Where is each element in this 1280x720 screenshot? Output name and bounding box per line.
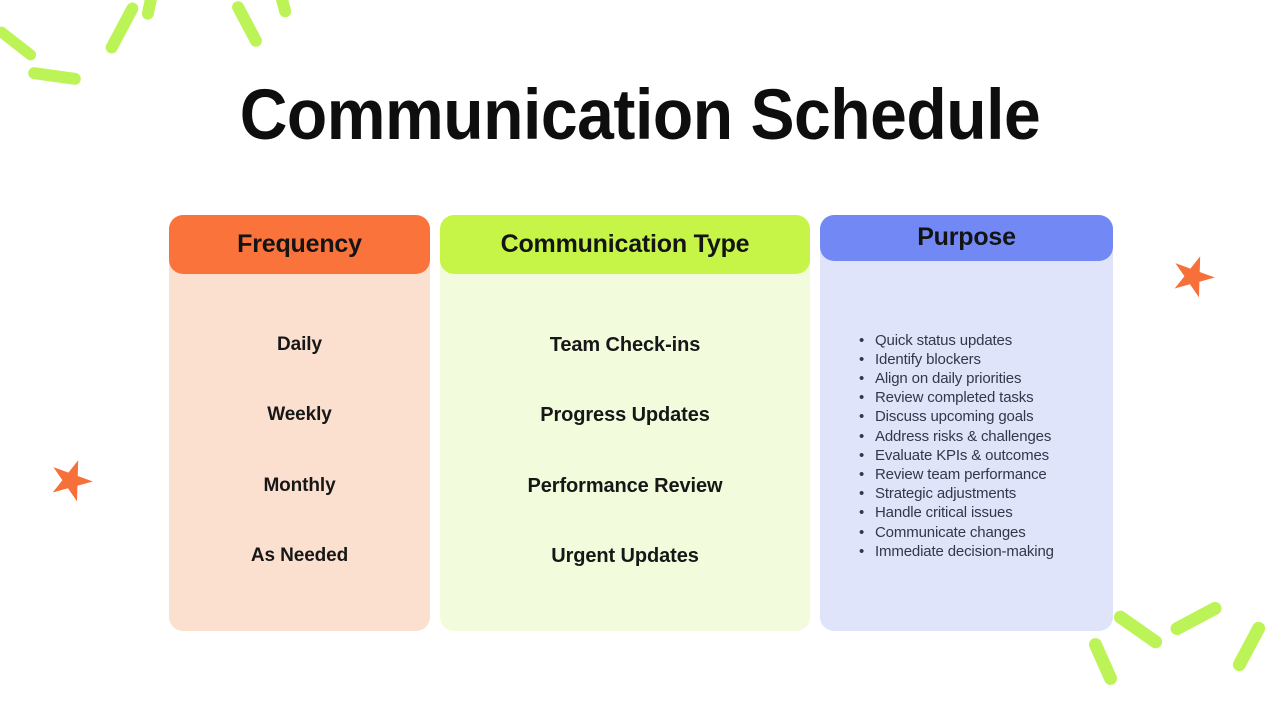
table-cell-frequency: As Needed (177, 545, 422, 567)
green-dash-icon (1087, 636, 1119, 687)
purpose-bullet-item: Align on daily priorities (859, 369, 1103, 388)
green-dash-icon (230, 0, 264, 49)
orange-star-left-icon (44, 453, 98, 507)
table-column-frequency: Frequency Daily Weekly Monthly As Needed (169, 215, 430, 631)
table-cell-frequency: Monthly (177, 475, 422, 497)
purpose-bullet-item: Communicate changes (859, 523, 1103, 542)
purpose-bullet-item: Review team performance (859, 465, 1103, 484)
purpose-bullet-group: Evaluate KPIs & outcomes Review team per… (859, 446, 1103, 504)
purpose-bullet-group: Quick status updates Identify blockers A… (859, 331, 1103, 389)
column-header-frequency: Frequency (169, 215, 430, 274)
purpose-bullet-item: Strategic adjustments (859, 484, 1103, 503)
table-cell-communication-type: Performance Review (448, 475, 802, 497)
communication-schedule-table: Frequency Daily Weekly Monthly As Needed… (169, 215, 1113, 631)
green-dash-icon (267, 0, 292, 19)
green-dash-icon (141, 0, 164, 21)
purpose-bullet-item: Evaluate KPIs & outcomes (859, 446, 1103, 465)
column-body-frequency: Daily Weekly Monthly As Needed (169, 260, 430, 631)
page-title: Communication Schedule (45, 72, 1235, 160)
column-header-purpose: Purpose (820, 215, 1113, 261)
green-dash-icon (104, 0, 141, 55)
table-column-purpose: Purpose Quick status updates Identify bl… (820, 215, 1113, 631)
green-dash-icon (1168, 600, 1224, 638)
purpose-bullet-item: Discuss upcoming goals (859, 407, 1103, 426)
slide-canvas: Communication Schedule Frequency Daily W… (0, 0, 1280, 720)
purpose-bullet-item: Quick status updates (859, 331, 1103, 350)
purpose-bullet-item: Address risks & challenges (859, 427, 1103, 446)
table-cell-frequency: Daily (177, 334, 422, 356)
purpose-bullet-group: Review completed tasks Discuss upcoming … (859, 388, 1103, 446)
purpose-bullet-item: Identify blockers (859, 350, 1103, 369)
table-cell-communication-type: Team Check-ins (448, 334, 802, 356)
purpose-bullet-group: Handle critical issues Communicate chang… (859, 503, 1103, 561)
orange-star-right-icon (1166, 249, 1220, 303)
green-dash-icon (1231, 620, 1268, 674)
table-cell-communication-type: Progress Updates (448, 404, 802, 426)
green-dash-icon (0, 24, 38, 62)
purpose-bullet-item: Handle critical issues (859, 503, 1103, 522)
column-header-communication-type: Communication Type (440, 215, 810, 274)
purpose-bullet-item: Review completed tasks (859, 388, 1103, 407)
table-cell-communication-type: Urgent Updates (448, 545, 802, 567)
column-body-communication-type: Team Check-ins Progress Updates Performa… (440, 260, 810, 631)
table-column-communication-type: Communication Type Team Check-ins Progre… (440, 215, 810, 631)
purpose-bullet-item: Immediate decision-making (859, 542, 1103, 561)
green-dash-icon (1111, 608, 1164, 651)
table-cell-frequency: Weekly (177, 404, 422, 426)
column-body-purpose: Quick status updates Identify blockers A… (820, 247, 1113, 631)
